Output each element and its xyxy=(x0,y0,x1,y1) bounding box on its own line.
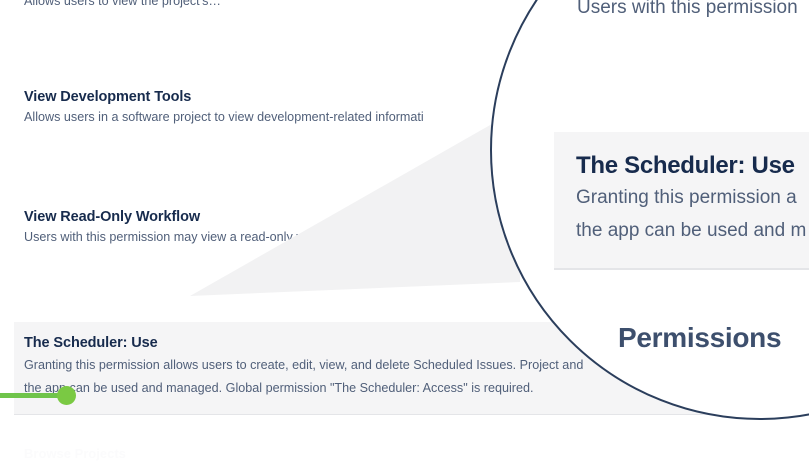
magnified-permission-card[interactable]: The Scheduler: Use Granting this permiss… xyxy=(554,132,809,270)
annotation-pointer xyxy=(0,386,76,405)
magnified-section-heading: Permissions xyxy=(618,322,781,354)
green-pointer-dot-icon xyxy=(57,386,76,405)
annotation-pointer-line xyxy=(0,393,60,398)
magnifier-lens: Users with this permission The Scheduler… xyxy=(490,0,809,420)
magnified-permission-title: The Scheduler: Use xyxy=(576,150,809,181)
magnified-permission-description-line-2: the app can be used and m xyxy=(576,214,809,247)
magnified-permission-description-line-1: Granting this permission a xyxy=(576,181,809,214)
magnifier-content: Users with this permission The Scheduler… xyxy=(492,0,809,420)
permission-row-partial-bottom: Browse Projects xyxy=(24,446,126,461)
magnified-top-line: Users with this permission xyxy=(577,0,798,22)
